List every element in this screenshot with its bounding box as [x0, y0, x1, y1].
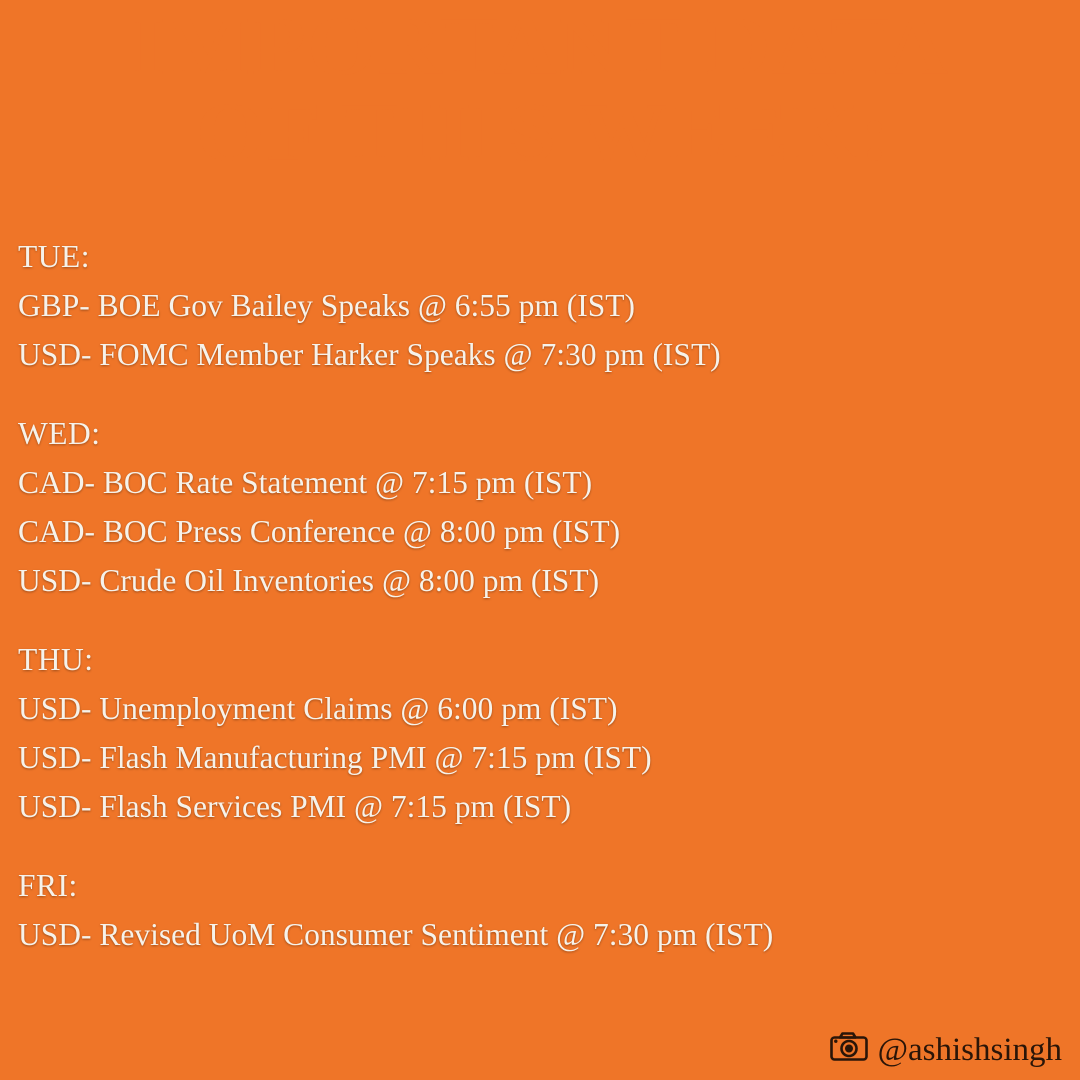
page-title: IMPORTANT DATA OF THIS WEEK:: [0, 4, 1080, 175]
event-item: GBP- BOE Gov Bailey Speaks @ 6:55 pm (IS…: [18, 281, 1038, 330]
event-item: USD- FOMC Member Harker Speaks @ 7:30 pm…: [18, 330, 1038, 379]
day-block: FRI:USD- Revised UoM Consumer Sentiment …: [18, 861, 1038, 959]
camera-icon: [830, 1031, 868, 1070]
title-line-2: OF THIS WEEK:: [0, 90, 1080, 176]
title-line-1: IMPORTANT DATA: [0, 4, 1080, 90]
day-label: FRI:: [18, 861, 1038, 910]
event-item: CAD- BOC Press Conference @ 8:00 pm (IST…: [18, 507, 1038, 556]
poster-canvas: 434.871 0.00249 +1.28% 21:00 1.48 USD 07…: [0, 0, 1080, 1080]
event-item: USD- Crude Oil Inventories @ 8:00 pm (IS…: [18, 556, 1038, 605]
day-block: THU:USD- Unemployment Claims @ 6:00 pm (…: [18, 635, 1038, 831]
day-label: TUE:: [18, 232, 1038, 281]
schedule-list: TUE:GBP- BOE Gov Bailey Speaks @ 6:55 pm…: [18, 232, 1038, 959]
day-label: WED:: [18, 409, 1038, 458]
event-item: USD- Flash Manufacturing PMI @ 7:15 pm (…: [18, 733, 1038, 782]
event-item: CAD- BOC Rate Statement @ 7:15 pm (IST): [18, 458, 1038, 507]
day-block: WED:CAD- BOC Rate Statement @ 7:15 pm (I…: [18, 409, 1038, 605]
event-item: USD- Revised UoM Consumer Sentiment @ 7:…: [18, 910, 1038, 959]
event-item: USD- Flash Services PMI @ 7:15 pm (IST): [18, 782, 1038, 831]
handle-text: @ashishsingh: [878, 1032, 1062, 1069]
day-label: THU:: [18, 635, 1038, 684]
social-handle[interactable]: @ashishsingh: [830, 1031, 1062, 1070]
event-item: USD- Unemployment Claims @ 6:00 pm (IST): [18, 684, 1038, 733]
day-block: TUE:GBP- BOE Gov Bailey Speaks @ 6:55 pm…: [18, 232, 1038, 379]
